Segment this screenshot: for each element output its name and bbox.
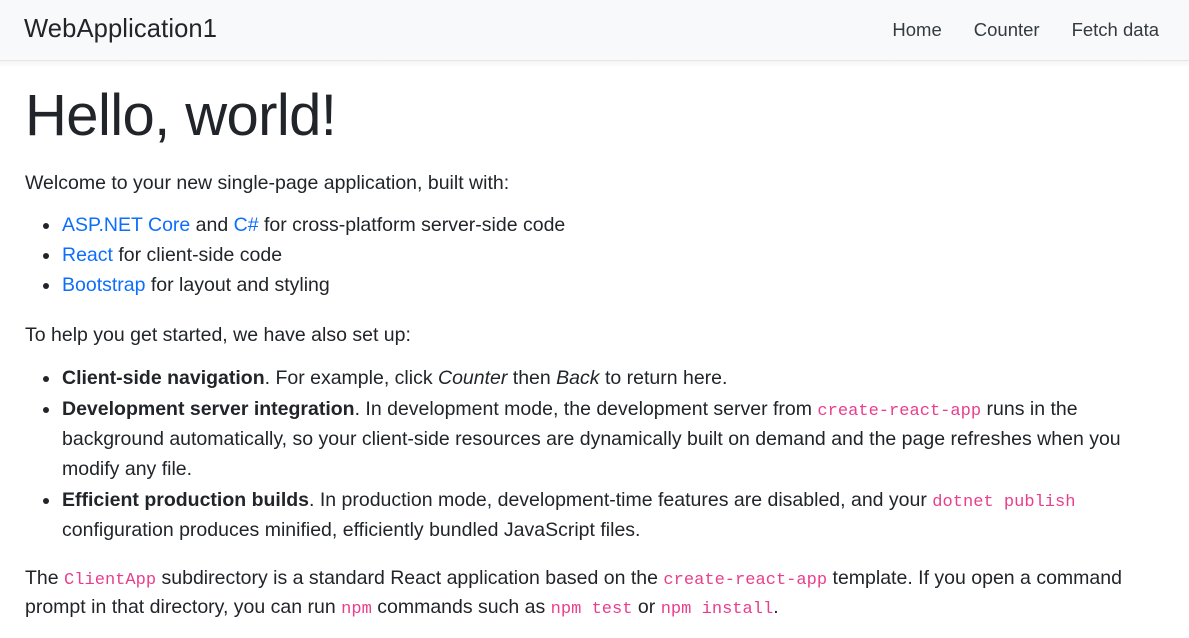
feature-text: . In production mode, development-time f… [309, 489, 932, 511]
nav-item-home: Home [876, 11, 957, 49]
closing-text: The [25, 567, 64, 589]
setup-intro-paragraph: To help you get started, we have also se… [25, 321, 1174, 350]
tech-tail-text: for layout and styling [145, 274, 329, 296]
nav-link-fetch-data[interactable]: Fetch data [1056, 11, 1175, 49]
feature-title-client-side-navigation: Client-side navigation [62, 367, 265, 389]
link-csharp[interactable]: C# [234, 214, 259, 236]
emphasis-back: Back [556, 367, 599, 389]
navbar-brand[interactable]: WebApplication1 [24, 17, 217, 43]
closing-text: commands such as [372, 596, 551, 618]
list-item: React for client-side code [61, 241, 1174, 271]
nav-link-counter[interactable]: Counter [958, 11, 1056, 49]
list-item: ASP.NET Core and C# for cross-platform s… [61, 211, 1174, 241]
navbar-links: Home Counter Fetch data [876, 11, 1175, 49]
list-item: Development server integration. In devel… [61, 395, 1174, 484]
tech-mid-text: and [190, 214, 233, 236]
closing-paragraph: The ClientApp subdirectory is a standard… [25, 564, 1174, 623]
feature-text: . In development mode, the development s… [355, 398, 818, 420]
link-bootstrap[interactable]: Bootstrap [62, 274, 145, 296]
link-react[interactable]: React [62, 244, 113, 266]
code-npm-test: npm test [551, 600, 633, 619]
code-npm-install: npm install [661, 600, 774, 619]
feature-title-efficient-production-builds: Efficient production builds [62, 489, 309, 511]
code-create-react-app: create-react-app [663, 571, 827, 590]
closing-text: . [773, 596, 778, 618]
list-item: Bootstrap for layout and styling [61, 271, 1174, 301]
list-item: Efficient production builds. In producti… [61, 486, 1174, 546]
feature-text: configuration produces minified, efficie… [62, 519, 640, 541]
tech-tail-text: for client-side code [113, 244, 282, 266]
nav-item-fetch-data: Fetch data [1056, 11, 1175, 49]
closing-text: or [633, 596, 661, 618]
closing-text: subdirectory is a standard React applica… [156, 567, 663, 589]
nav-item-counter: Counter [958, 11, 1056, 49]
feature-text: then [507, 367, 556, 389]
feature-title-development-server-integration: Development server integration [62, 398, 355, 420]
code-npm: npm [341, 600, 372, 619]
link-aspnet-core[interactable]: ASP.NET Core [62, 214, 190, 236]
nav-link-home[interactable]: Home [876, 11, 957, 49]
technology-list: ASP.NET Core and C# for cross-platform s… [25, 211, 1174, 300]
top-navbar: WebApplication1 Home Counter Fetch data [0, 0, 1189, 61]
list-item: Client-side navigation. For example, cli… [61, 364, 1174, 394]
emphasis-counter: Counter [438, 367, 507, 389]
code-dotnet-publish: dotnet publish [932, 493, 1075, 512]
tech-tail-text: for cross-platform server-side code [259, 214, 566, 236]
intro-paragraph: Welcome to your new single-page applicat… [25, 169, 1174, 198]
main-content: Hello, world! Welcome to your new single… [10, 84, 1189, 623]
code-clientapp: ClientApp [64, 571, 156, 590]
feature-text: to return here. [600, 367, 728, 389]
features-list: Client-side navigation. For example, cli… [25, 364, 1174, 546]
feature-text: . For example, click [265, 367, 438, 389]
page-title: Hello, world! [25, 84, 1174, 148]
code-create-react-app: create-react-app [817, 402, 981, 421]
